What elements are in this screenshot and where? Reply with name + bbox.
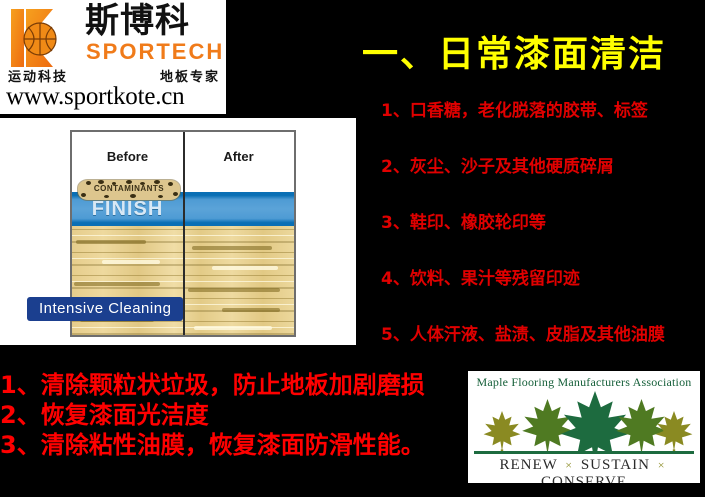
mfma-footer-renew: RENEW: [499, 457, 557, 473]
mfma-footer: RENEW × SUSTAIN × CONSERVE: [468, 457, 700, 483]
mfma-separator-icon: ×: [562, 458, 576, 472]
list-item: 1、口香糖，老化脱落的胶带、标签: [381, 100, 701, 122]
contaminants-label: CONTAMINANTS: [78, 184, 180, 193]
list-item: 3、清除粘性油膜，恢复漆面防滑性能。: [0, 430, 465, 460]
basketball-k-mark-icon: [9, 7, 81, 69]
list-item: 2、灰尘、沙子及其他硬质碎屑: [381, 156, 701, 178]
mfma-separator-icon: ×: [655, 458, 669, 472]
intensive-cleaning-badge: Intensive Cleaning: [27, 297, 183, 321]
mfma-logo: Maple Flooring Manufacturers Association: [468, 371, 700, 483]
company-logo-panel: 斯博科 SPORTECH 运动科技 地板专家 www.sportkote.cn: [0, 0, 226, 114]
mfma-footer-conserve: CONSERVE: [541, 474, 627, 483]
brand-website: www.sportkote.cn: [6, 83, 184, 110]
brand-name-cn: 斯博科: [85, 2, 190, 40]
page-title: 一、日常漆面清洁: [362, 25, 666, 77]
list-item: 1、清除颗粒状垃圾，防止地板加剧磨损: [0, 370, 465, 400]
contaminants-list: 1、口香糖，老化脱落的胶带、标签 2、灰尘、沙子及其他硬质碎屑 3、鞋印、橡胶轮…: [381, 100, 701, 346]
finish-label: FINISH: [72, 198, 183, 221]
benefits-list: 1、清除颗粒状垃圾，防止地板加剧磨损 2、恢复漆面光洁度 3、清除粘性油膜，恢复…: [0, 370, 465, 460]
maple-leaf-icon: [468, 389, 700, 451]
brand-name-en: SPORTECH: [86, 41, 224, 63]
contaminants-deposit: CONTAMINANTS: [78, 180, 180, 200]
slide-canvas: 斯博科 SPORTECH 运动科技 地板专家 www.sportkote.cn …: [0, 0, 705, 497]
mfma-footer-sustain: SUSTAIN: [581, 457, 650, 473]
list-item: 2、恢复漆面光洁度: [0, 400, 465, 430]
list-item: 5、人体汗液、盐渍、皮脂及其他油膜: [381, 324, 701, 346]
mfma-title: Maple Flooring Manufacturers Association: [468, 375, 700, 390]
mfma-divider: [474, 451, 694, 454]
list-item: 4、饮料、果汁等残留印迹: [381, 268, 701, 290]
diagram-center-divider: [183, 132, 185, 335]
diagram-header-before: Before: [72, 149, 183, 164]
list-item: 3、鞋印、橡胶轮印等: [381, 212, 701, 234]
diagram-header-after: After: [183, 149, 294, 164]
